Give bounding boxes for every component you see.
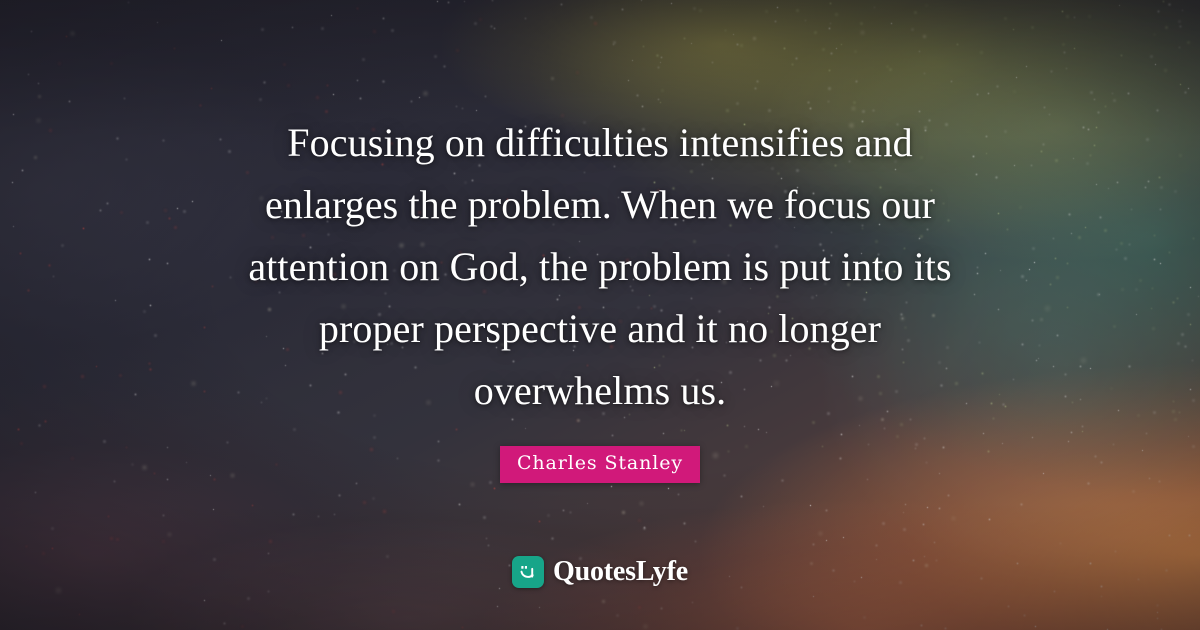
quote-line: attention on God, the problem is put int… xyxy=(150,236,1050,298)
quote-line: overwhelms us. xyxy=(150,360,1050,422)
starfield-white xyxy=(0,0,1,1)
starfield-green xyxy=(0,0,1,1)
quote-line: enlarges the problem. When we focus our xyxy=(150,174,1050,236)
quote-smiley-icon xyxy=(512,556,544,588)
starfield-red xyxy=(0,0,1,1)
author-name-badge[interactable]: Charles Stanley xyxy=(500,446,700,483)
quote-card: Focusing on difficulties intensifies and… xyxy=(0,0,1200,630)
brand-logo[interactable]: QuotesLyfe xyxy=(0,556,1200,588)
author-badge-wrapper: Charles Stanley xyxy=(0,446,1200,483)
brand-wordmark: QuotesLyfe xyxy=(553,558,688,586)
quote-line: Focusing on difficulties intensifies and xyxy=(150,112,1050,174)
quote-line: proper perspective and it no longer xyxy=(150,298,1050,360)
quote-text: Focusing on difficulties intensifies and… xyxy=(0,112,1200,422)
starfield-bright xyxy=(0,0,1,1)
